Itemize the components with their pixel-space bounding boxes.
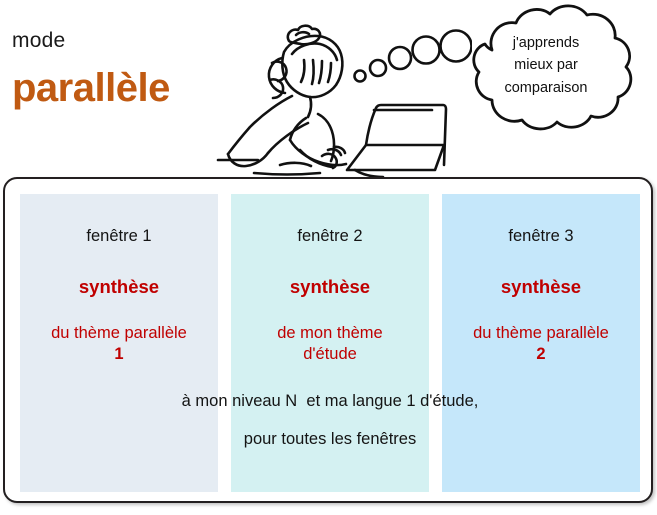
window-column-2-desc-line-1: de mon thème bbox=[231, 323, 429, 344]
window-column-1-description: du thème parallèle 1 bbox=[20, 323, 218, 365]
window-column-1-desc-line-2: 1 bbox=[20, 344, 218, 365]
window-column-2-desc-line-2: d'étude bbox=[231, 344, 429, 365]
window-column-2: fenêtre 2 synthèse de mon thème d'étude bbox=[231, 194, 429, 492]
window-column-2-name: fenêtre 2 bbox=[231, 228, 429, 245]
window-column-3-name: fenêtre 3 bbox=[442, 228, 640, 245]
page-title: parallèle bbox=[12, 68, 170, 108]
window-column-3-content: fenêtre 3 synthèse du thème parallèle 2 bbox=[442, 194, 640, 365]
slide-canvas: mode parallèle bbox=[0, 0, 657, 515]
window-column-1-content: fenêtre 1 synthèse du thème parallèle 1 bbox=[20, 194, 218, 365]
mode-label: mode bbox=[12, 30, 65, 51]
window-column-3: fenêtre 3 synthèse du thème parallèle 2 bbox=[442, 194, 640, 492]
window-columns: fenêtre 1 synthèse du thème parallèle 1 … bbox=[20, 194, 640, 492]
window-column-1-synthesis: synthèse bbox=[20, 278, 218, 297]
window-column-2-synthesis: synthèse bbox=[231, 278, 429, 297]
window-column-1-name: fenêtre 1 bbox=[20, 228, 218, 245]
window-column-2-description: de mon thème d'étude bbox=[231, 323, 429, 365]
window-column-3-desc-line-1: du thème parallèle bbox=[442, 323, 640, 344]
window-column-1: fenêtre 1 synthèse du thème parallèle 1 bbox=[20, 194, 218, 492]
window-column-3-synthesis: synthèse bbox=[442, 278, 640, 297]
window-column-3-desc-line-2: 2 bbox=[442, 344, 640, 365]
window-column-1-desc-line-1: du thème parallèle bbox=[20, 323, 218, 344]
window-column-2-content: fenêtre 2 synthèse de mon thème d'étude bbox=[231, 194, 429, 365]
window-column-3-description: du thème parallèle 2 bbox=[442, 323, 640, 365]
thought-bubble-icon bbox=[440, 2, 652, 150]
